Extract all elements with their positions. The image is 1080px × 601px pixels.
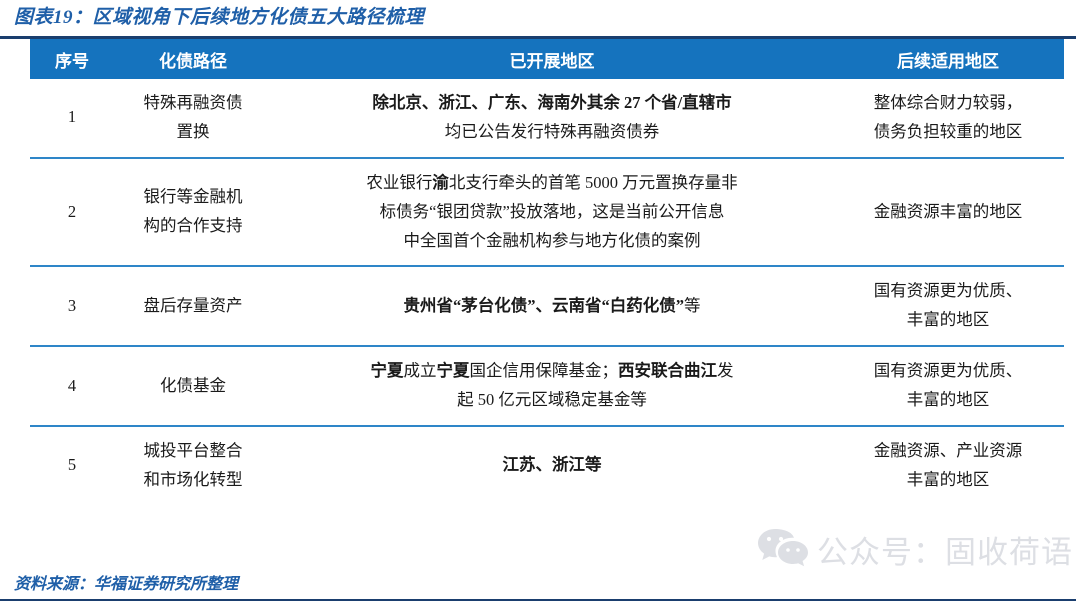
table-header: 序号 化债路径 已开展地区 后续适用地区 [30,39,1064,79]
text-line: 银行等金融机 [118,183,268,212]
page-title: 图表19：区域视角下后续地方化债五大路径梳理 [14,2,424,29]
text-line: 和市场化转型 [118,466,268,495]
text-line: 中全国首个金融机构参与地方化债的案例 [276,227,828,256]
column-header-next-areas: 后续适用地区 [832,39,1064,79]
text-line: 特殊再融资债 [118,89,268,118]
table-header-row: 序号 化债路径 已开展地区 后续适用地区 [30,39,1064,79]
text-line: 整体综合财力较弱， [836,89,1060,118]
cell-index: 2 [30,158,114,267]
text-line: 宁夏成立宁夏国企信用保障基金；西安联合曲江发 [276,357,828,386]
cell-done-areas: 农业银行渝北支行牵头的首笔 5000 万元置换存量非 标债务“银团贷款”投放落地… [272,158,832,267]
text-line: 化债基金 [118,372,268,401]
emphasis-text: 贵州省“茅台化债”、云南省“白药化债” [404,296,685,315]
emphasis-text: 渝 [432,173,449,192]
cell-done-areas: 江苏、浙江等 [272,426,832,505]
table-row: 3 盘后存量资产 贵州省“茅台化债”、云南省“白药化债”等 国有资源更为优质、 … [30,266,1064,346]
wechat-icon [757,527,809,572]
cell-index: 4 [30,346,114,426]
table-row: 1 特殊再融资债 置换 除北京、浙江、广东、海南外其余 27 个省/直辖市 均已… [30,79,1064,158]
cell-next-areas: 金融资源丰富的地区 [832,158,1064,267]
cell-index: 3 [30,266,114,346]
text-line: 丰富的地区 [836,306,1060,335]
text-line: 农业银行渝北支行牵头的首笔 5000 万元置换存量非 [276,169,828,198]
column-header-done-areas: 已开展地区 [272,39,832,79]
text-line: 贵州省“茅台化债”、云南省“白药化债”等 [276,292,828,321]
text-line: 除北京、浙江、广东、海南外其余 27 个省/直辖市 [276,89,828,118]
table-row: 2 银行等金融机 构的合作支持 农业银行渝北支行牵头的首笔 5000 万元置换存… [30,158,1064,267]
text-line: 置换 [118,118,268,147]
text-line: 起 50 亿元区域稳定基金等 [276,386,828,415]
column-header-path: 化债路径 [114,39,272,79]
watermark: 公众号：固收荷语 [757,527,1073,572]
text-line: 构的合作支持 [118,212,268,241]
text-line: 丰富的地区 [836,386,1060,415]
cell-path: 化债基金 [114,346,272,426]
emphasis-text: 除北京、浙江、广东、海南外其余 27 个省/直辖市 [372,93,731,112]
text-line: 标债务“银团贷款”投放落地，这是当前公开信息 [276,198,828,227]
text-line: 国有资源更为优质、 [836,357,1060,386]
exhibit-table-container: 序号 化债路径 已开展地区 后续适用地区 1 特殊再融资债 置换 除北京、浙江、… [0,36,1076,505]
text-line: 均已公告发行特殊再融资债券 [276,118,828,147]
cell-index: 5 [30,426,114,505]
emphasis-text: 西安联合曲江 [618,361,717,380]
watermark-text: 公众号：固收荷语 [817,527,1073,572]
text-line: 丰富的地区 [836,466,1060,495]
text-line: 债务负担较重的地区 [836,118,1060,147]
cell-done-areas: 除北京、浙江、广东、海南外其余 27 个省/直辖市 均已公告发行特殊再融资债券 [272,79,832,158]
cell-next-areas: 整体综合财力较弱， 债务负担较重的地区 [832,79,1064,158]
text-line: 盘后存量资产 [118,292,268,321]
cell-path: 银行等金融机 构的合作支持 [114,158,272,267]
cell-next-areas: 国有资源更为优质、 丰富的地区 [832,346,1064,426]
source-note: 资料来源：华福证券研究所整理 [14,570,238,594]
table-row: 4 化债基金 宁夏成立宁夏国企信用保障基金；西安联合曲江发 起 50 亿元区域稳… [30,346,1064,426]
cell-path: 城投平台整合 和市场化转型 [114,426,272,505]
emphasis-text: 江苏、浙江等 [503,455,602,474]
cell-path: 特殊再融资债 置换 [114,79,272,158]
text-line: 金融资源、产业资源 [836,437,1060,466]
emphasis-text: 宁夏 [437,361,470,380]
text-line: 江苏、浙江等 [276,451,828,480]
five-paths-table: 序号 化债路径 已开展地区 后续适用地区 1 特殊再融资债 置换 除北京、浙江、… [30,39,1064,505]
text-line: 城投平台整合 [118,437,268,466]
cell-path: 盘后存量资产 [114,266,272,346]
cell-done-areas: 宁夏成立宁夏国企信用保障基金；西安联合曲江发 起 50 亿元区域稳定基金等 [272,346,832,426]
cell-done-areas: 贵州省“茅台化债”、云南省“白药化债”等 [272,266,832,346]
cell-index: 1 [30,79,114,158]
cell-next-areas: 国有资源更为优质、 丰富的地区 [832,266,1064,346]
table-row: 5 城投平台整合 和市场化转型 江苏、浙江等 金融资源、产业资源 丰富的地区 [30,426,1064,505]
text-line: 国有资源更为优质、 [836,277,1060,306]
text-line: 金融资源丰富的地区 [836,198,1060,227]
column-header-index: 序号 [30,39,114,79]
emphasis-text: 宁夏 [371,361,404,380]
table-body: 1 特殊再融资债 置换 除北京、浙江、广东、海南外其余 27 个省/直辖市 均已… [30,79,1064,505]
cell-next-areas: 金融资源、产业资源 丰富的地区 [832,426,1064,505]
